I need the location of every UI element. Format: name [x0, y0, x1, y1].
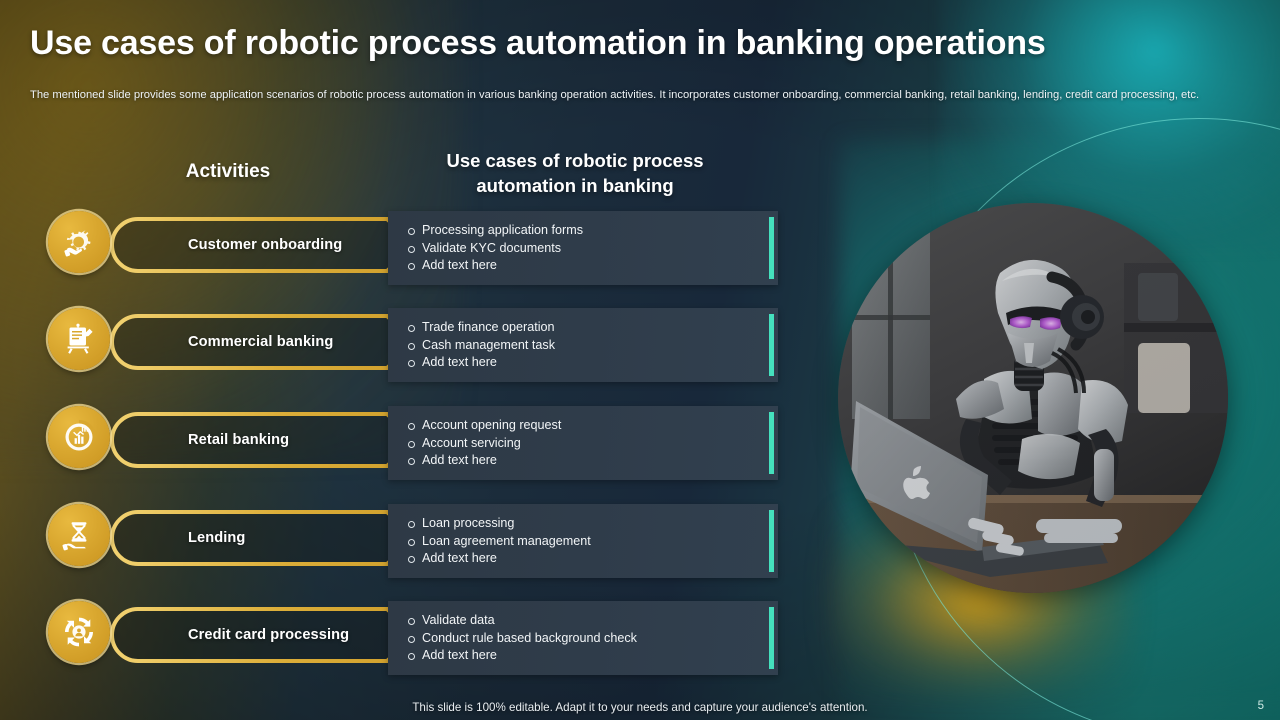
column-heading-usecases: Use cases of robotic process automation …	[395, 148, 755, 198]
card-accent-bar	[769, 217, 774, 279]
list-item: Add text here	[422, 354, 778, 372]
document-pen-easel-icon	[48, 308, 110, 370]
list-item: Loan processing	[422, 515, 778, 533]
page-subtitle: The mentioned slide provides some applic…	[30, 88, 1200, 104]
list-item: Add text here	[422, 550, 778, 568]
photo-illustration	[838, 203, 1228, 593]
activity-label: Credit card processing	[188, 607, 378, 663]
activity-pill-credit-card-processing[interactable]: Credit card processing	[110, 607, 418, 663]
activity-pill-customer-onboarding[interactable]: Customer onboarding	[110, 217, 418, 273]
list-item: Loan agreement management	[422, 533, 778, 551]
list-item: Processing application forms	[422, 222, 778, 240]
list-item: Cash management task	[422, 337, 778, 355]
recycle-gear-icon	[48, 601, 110, 663]
usecase-list: Loan processing Loan agreement managemen…	[388, 504, 778, 568]
usecase-card: Account opening request Account servicin…	[388, 406, 778, 480]
robot-using-laptop-photo	[838, 203, 1228, 593]
usecases-heading-line-2: automation in banking	[395, 173, 755, 198]
usecase-card: Validate data Conduct rule based backgro…	[388, 601, 778, 675]
usecase-card: Loan processing Loan agreement managemen…	[388, 504, 778, 578]
usecase-list: Trade finance operation Cash management …	[388, 308, 778, 372]
card-accent-bar	[769, 607, 774, 669]
usecase-list: Account opening request Account servicin…	[388, 406, 778, 470]
page-title: Use cases of robotic process automation …	[30, 24, 1190, 63]
activity-label: Retail banking	[188, 412, 378, 468]
list-item: Add text here	[422, 647, 778, 665]
list-item: Conduct rule based background check	[422, 630, 778, 648]
usecase-list: Validate data Conduct rule based backgro…	[388, 601, 778, 665]
hourglass-hand-icon	[48, 504, 110, 566]
activity-pill-commercial-banking[interactable]: Commercial banking	[110, 314, 418, 370]
table-row: Credit card processing Valida	[48, 601, 1228, 675]
list-item: Add text here	[422, 452, 778, 470]
list-item: Trade finance operation	[422, 319, 778, 337]
usecase-list: Processing application forms Validate KY…	[388, 211, 778, 275]
list-item: Add text here	[422, 257, 778, 275]
activity-label: Customer onboarding	[188, 217, 378, 273]
slide-canvas: Use cases of robotic process automation …	[0, 0, 1280, 720]
list-item: Validate KYC documents	[422, 240, 778, 258]
usecases-heading-line-1: Use cases of robotic process	[395, 148, 755, 173]
activity-label: Commercial banking	[188, 314, 378, 370]
list-item: Account opening request	[422, 417, 778, 435]
footer-note: This slide is 100% editable. Adapt it to…	[0, 701, 1280, 714]
page-number: 5	[1258, 700, 1264, 712]
card-accent-bar	[769, 510, 774, 572]
activity-pill-lending[interactable]: Lending	[110, 510, 418, 566]
list-item: Account servicing	[422, 435, 778, 453]
usecase-card: Trade finance operation Cash management …	[388, 308, 778, 382]
usecase-card: Processing application forms Validate KY…	[388, 211, 778, 285]
robot-hand-gear-icon	[48, 211, 110, 273]
activity-pill-retail-banking[interactable]: Retail banking	[110, 412, 418, 468]
column-heading-activities: Activities	[120, 161, 336, 183]
list-item: Validate data	[422, 612, 778, 630]
bar-chart-circle-icon	[48, 406, 110, 468]
activity-label: Lending	[188, 510, 378, 566]
card-accent-bar	[769, 412, 774, 474]
card-accent-bar	[769, 314, 774, 376]
